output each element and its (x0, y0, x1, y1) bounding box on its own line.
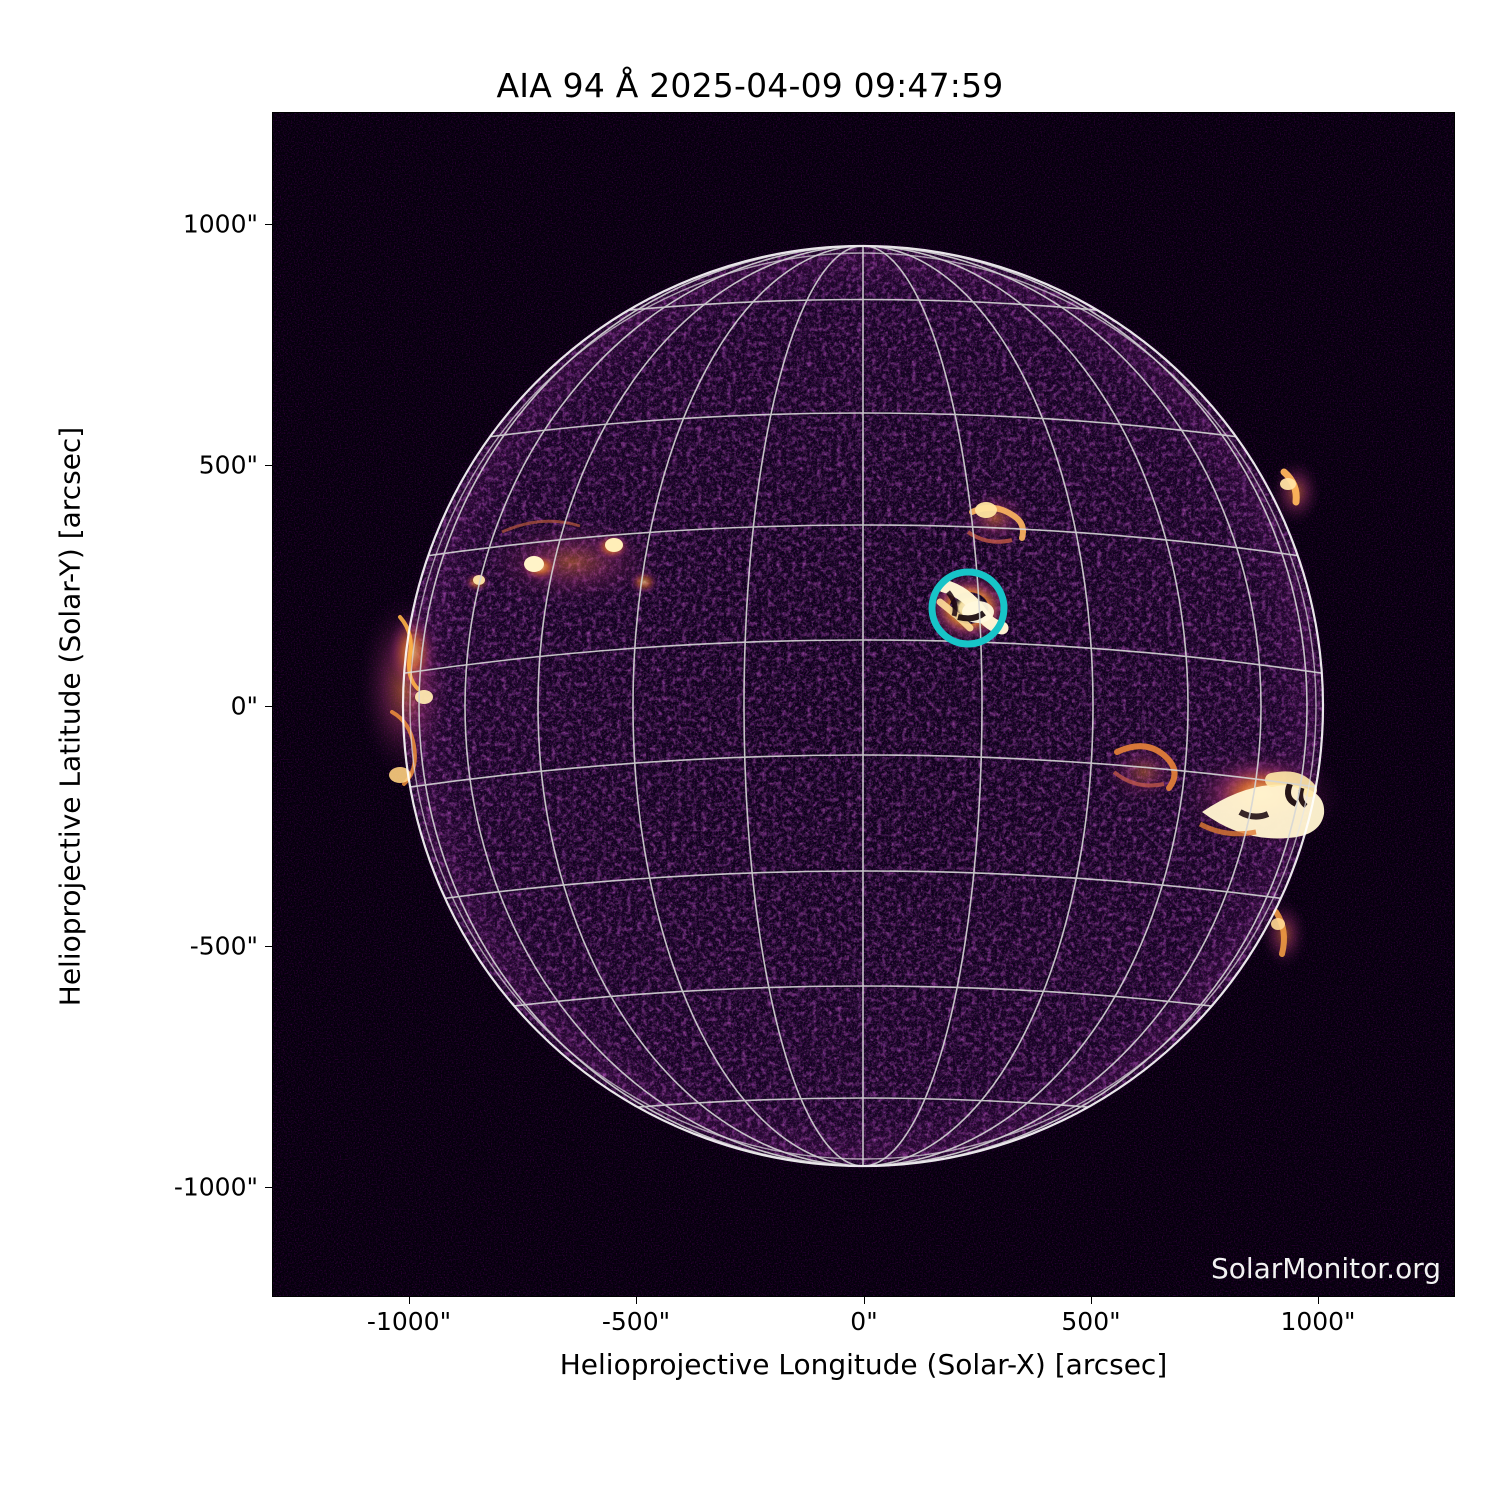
y-axis-label: Helioprojective Latitude (Solar-Y) [arcs… (54, 217, 87, 1217)
ytick-mark (265, 465, 272, 466)
active-region-south-mid (1102, 738, 1186, 806)
solar-image-figure: AIA 94 Å 2025-04-09 09:47:59 (0, 0, 1500, 1500)
ytick-mark (265, 1187, 272, 1188)
xtick-label: 500" (1061, 1307, 1120, 1336)
xtick-mark (864, 1297, 865, 1304)
ytick-label: -1000" (174, 1173, 258, 1202)
ytick-label: -500" (190, 932, 258, 961)
page-title: AIA 94 Å 2025-04-09 09:47:59 (0, 66, 1500, 105)
watermark: SolarMonitor.org (1211, 1252, 1441, 1285)
xtick-label: 0" (850, 1307, 877, 1336)
xtick-mark (1318, 1297, 1319, 1304)
xtick-label: -1000" (367, 1307, 451, 1336)
xtick-mark (409, 1297, 410, 1304)
ytick-mark (265, 224, 272, 225)
active-region-northwest-limb (1270, 458, 1322, 526)
image-plot-area[interactable]: SolarMonitor.org (272, 112, 1455, 1297)
x-axis-label: Helioprojective Longitude (Solar-X) [arc… (272, 1348, 1455, 1381)
active-region-southwest-limb (1260, 898, 1308, 970)
ytick-label: 500" (199, 451, 258, 480)
solar-image-canvas (272, 112, 1455, 1297)
ytick-label: 1000" (183, 210, 258, 239)
ytick-mark (265, 946, 272, 947)
xtick-mark (636, 1297, 637, 1304)
xtick-label: 1000" (1280, 1307, 1355, 1336)
ytick-mark (265, 706, 272, 707)
ytick-label: 0" (231, 692, 258, 721)
xtick-mark (1091, 1297, 1092, 1304)
xtick-label: -500" (602, 1307, 670, 1336)
